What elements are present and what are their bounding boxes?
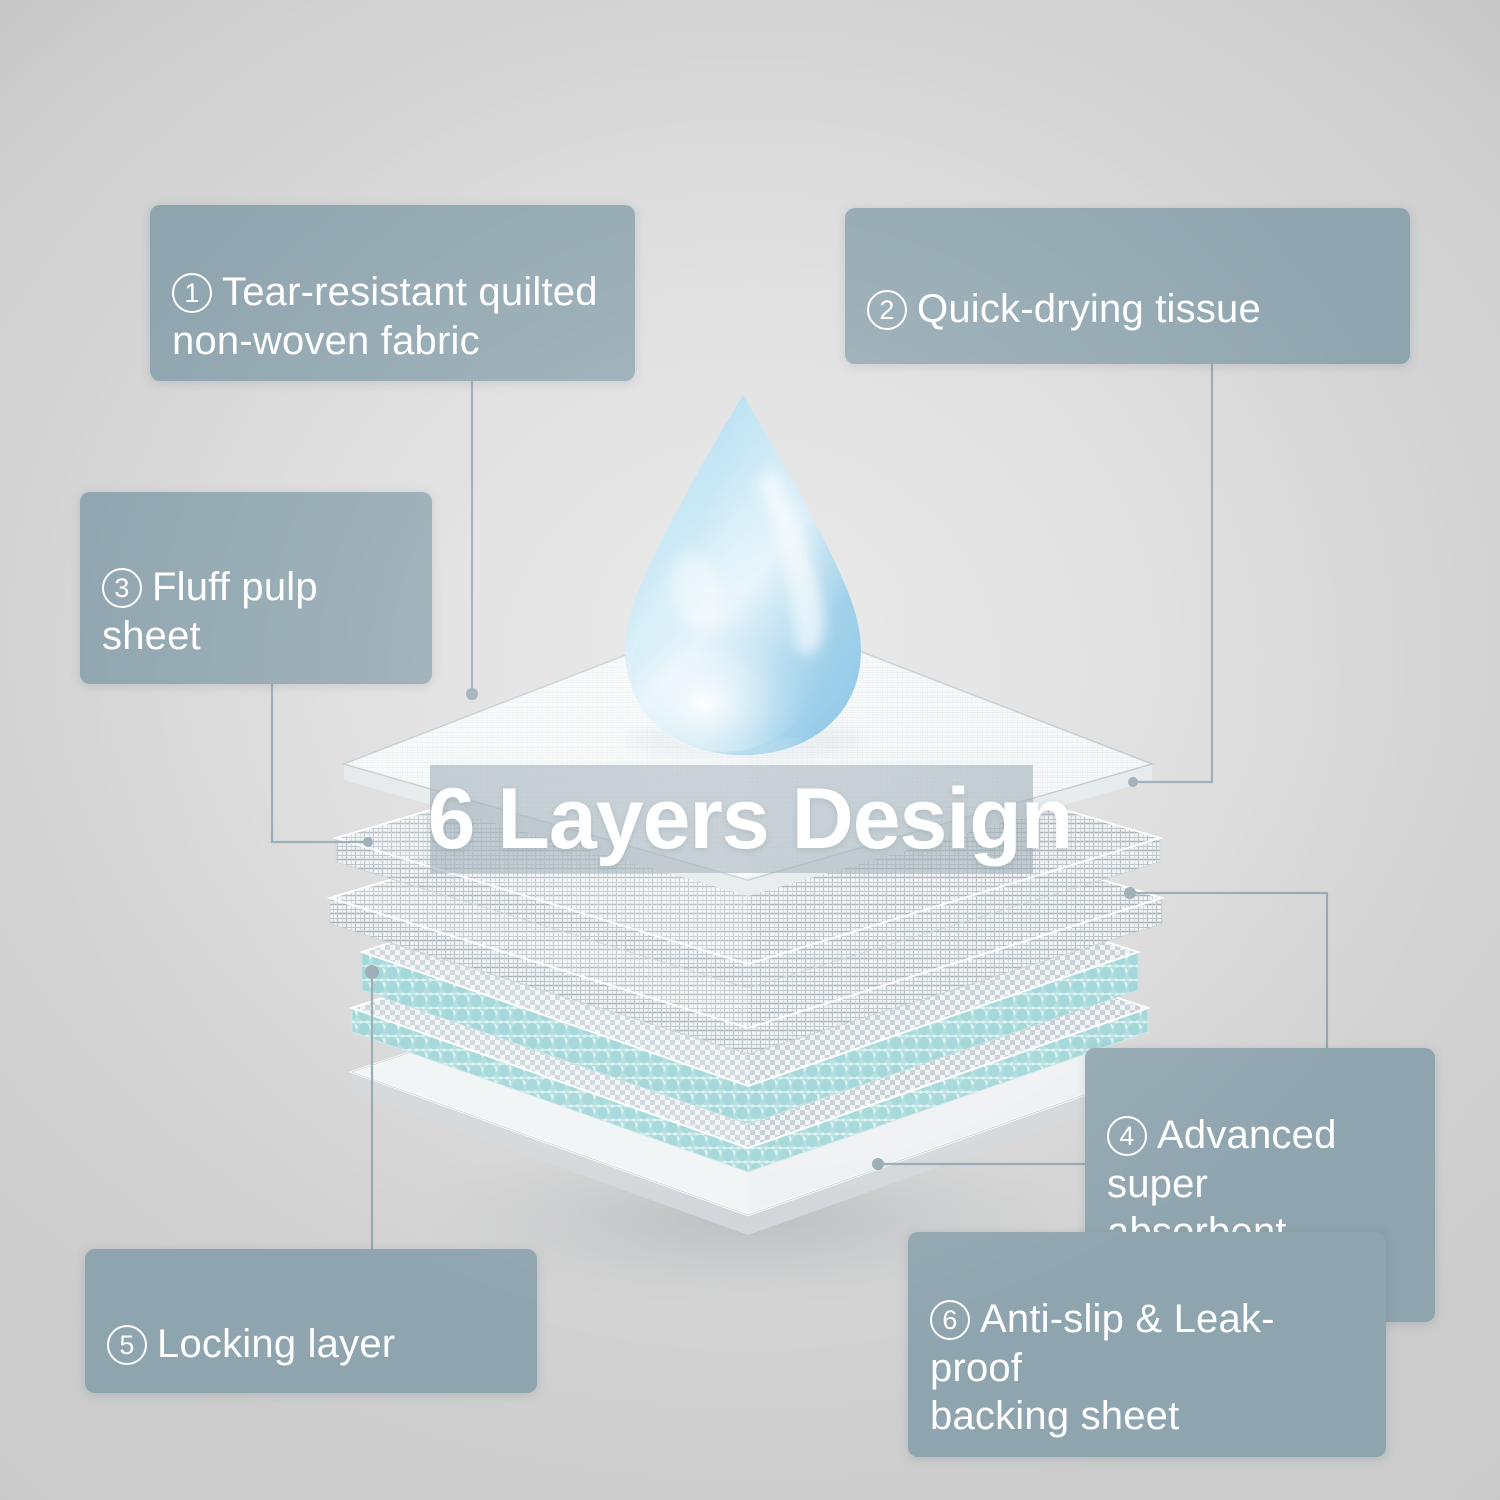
connector-dot-1	[466, 688, 478, 700]
connector-dot-4	[1124, 887, 1136, 899]
layer-1-nonwoven-fabric	[344, 608, 1152, 896]
callout-text-1: Tear-resistant quilted non-woven fabric	[172, 270, 598, 363]
connector-dot-5	[365, 965, 379, 979]
callout-text-5: Locking layer	[157, 1322, 395, 1366]
connector-line-4	[1130, 893, 1327, 1048]
callout-label-6[interactable]: 6Anti-slip & Leak-proof backing sheet	[908, 1232, 1386, 1457]
callout-number-1: 1	[172, 273, 212, 313]
connector-line-2	[1133, 312, 1212, 782]
layer-3-fluff-pulp-sheet	[330, 772, 1162, 1054]
infographic-canvas: 6 Layers Design 1Tear-resistant quilted …	[0, 0, 1500, 1500]
callout-number-6: 6	[930, 1300, 970, 1340]
page-title: 6 Layers Design	[0, 770, 1500, 869]
layer-5-locking-layer	[352, 876, 1148, 1172]
layer-2-quick-drying-tissue	[336, 716, 1160, 988]
connector-dot-2	[1128, 777, 1138, 787]
callout-text-2: Quick-drying tissue	[917, 287, 1261, 331]
callout-number-2: 2	[867, 290, 907, 330]
callout-number-5: 5	[107, 1325, 147, 1365]
callout-number-4: 4	[1107, 1116, 1147, 1156]
connector-dot-3	[363, 837, 373, 847]
callout-number-3: 3	[102, 568, 142, 608]
layer-6-backing-sheet	[352, 940, 1148, 1235]
water-droplet-icon	[625, 395, 863, 760]
callout-text-6: Anti-slip & Leak-proof backing sheet	[930, 1297, 1275, 1439]
title-banner	[430, 765, 1033, 873]
connector-dot-6	[872, 1158, 884, 1170]
layer-4-absorbent-polymer	[362, 826, 1138, 1124]
callout-label-5[interactable]: 5Locking layer	[85, 1249, 537, 1393]
callout-label-1[interactable]: 1Tear-resistant quilted non-woven fabric	[150, 205, 635, 381]
callout-label-2[interactable]: 2Quick-drying tissue	[845, 208, 1410, 364]
callout-label-3[interactable]: 3Fluff pulp sheet	[80, 492, 432, 684]
